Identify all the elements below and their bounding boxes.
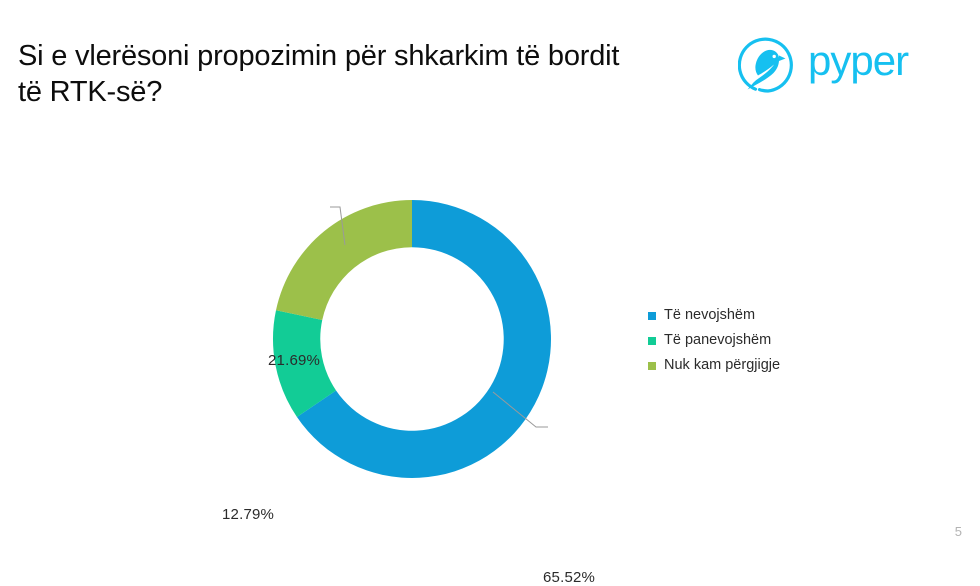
donut-chart-svg bbox=[0, 150, 640, 520]
legend-label: Të panevojshëm bbox=[664, 333, 771, 348]
pyper-wordmark: pyper bbox=[808, 39, 956, 91]
donut-chart: 21.69% 12.79% 65.52% bbox=[0, 150, 640, 520]
page-title-line-2: të RTK-së? bbox=[18, 74, 778, 110]
page-number: 5 bbox=[955, 524, 962, 539]
donut-slices bbox=[273, 200, 551, 478]
legend-item-nuk-kam-pergjigje[interactable]: Nuk kam përgjigje bbox=[648, 353, 848, 378]
page-title-line-1: Si e vlerësoni propozimin për shkarkim t… bbox=[18, 38, 778, 74]
legend-label: Të nevojshëm bbox=[664, 308, 755, 323]
legend-item-te-nevojshem[interactable]: Të nevojshëm bbox=[648, 303, 848, 328]
svg-text:pyper: pyper bbox=[808, 39, 909, 84]
bird-in-circle-icon bbox=[738, 35, 798, 95]
legend-swatch-icon bbox=[648, 362, 656, 370]
page-title: Si e vlerësoni propozimin për shkarkim t… bbox=[18, 38, 778, 110]
data-label-nuk-kam-pergjigje: 21.69% bbox=[268, 352, 320, 369]
legend-swatch-icon bbox=[648, 312, 656, 320]
donut-slice-nuk-kam-pergjigje[interactable] bbox=[276, 200, 412, 320]
legend-label: Nuk kam përgjigje bbox=[664, 358, 780, 373]
pyper-logo: pyper bbox=[738, 34, 956, 96]
data-label-te-panevojshem: 12.79% bbox=[222, 506, 274, 523]
legend-swatch-icon bbox=[648, 337, 656, 345]
legend-item-te-panevojshem[interactable]: Të panevojshëm bbox=[648, 328, 848, 353]
chart-legend: Të nevojshëm Të panevojshëm Nuk kam përg… bbox=[648, 303, 848, 378]
data-label-te-nevojshem: 65.52% bbox=[543, 569, 595, 586]
slide-canvas: Si e vlerësoni propozimin për shkarkim t… bbox=[0, 0, 980, 551]
